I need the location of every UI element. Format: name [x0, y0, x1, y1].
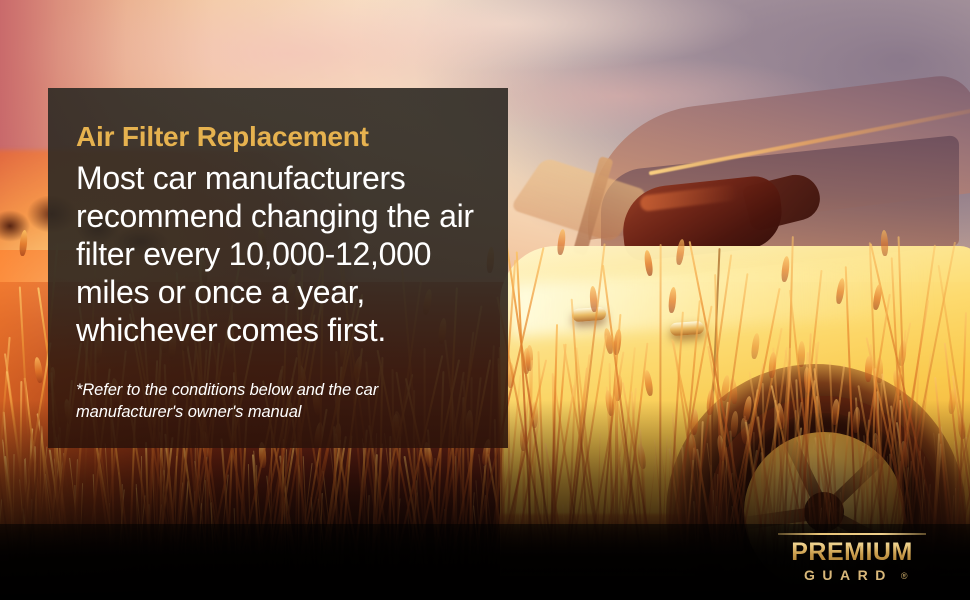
logo-primary-text: PREMIUM [778, 540, 926, 565]
panel-footnote: *Refer to the conditions below and the c… [76, 379, 480, 423]
wheat-head [780, 256, 790, 283]
logo-secondary-text: GUARD [797, 568, 893, 582]
logo-divider-rule [778, 533, 926, 535]
wheat-head [667, 287, 676, 314]
wheat-head [643, 250, 653, 277]
wheat-head [557, 228, 567, 255]
logo-secondary-row: GUARD ® [778, 568, 926, 582]
wheat-head [880, 230, 888, 256]
page-title: Air Filter Replacement [76, 122, 480, 153]
wheat-head [872, 283, 883, 310]
wheat-head [750, 332, 760, 359]
promo-banner: Air Filter Replacement Most car manufact… [0, 0, 970, 600]
wheat-head [675, 239, 686, 266]
panel-body-text: Most car manufacturers recommend changin… [76, 159, 480, 349]
wheat-head [19, 229, 28, 256]
text-overlay-panel: Air Filter Replacement Most car manufact… [48, 88, 508, 448]
brand-logo: PREMIUM GUARD ® [778, 533, 926, 582]
registered-trademark-icon: ® [901, 572, 908, 582]
wheat-head [835, 278, 846, 305]
